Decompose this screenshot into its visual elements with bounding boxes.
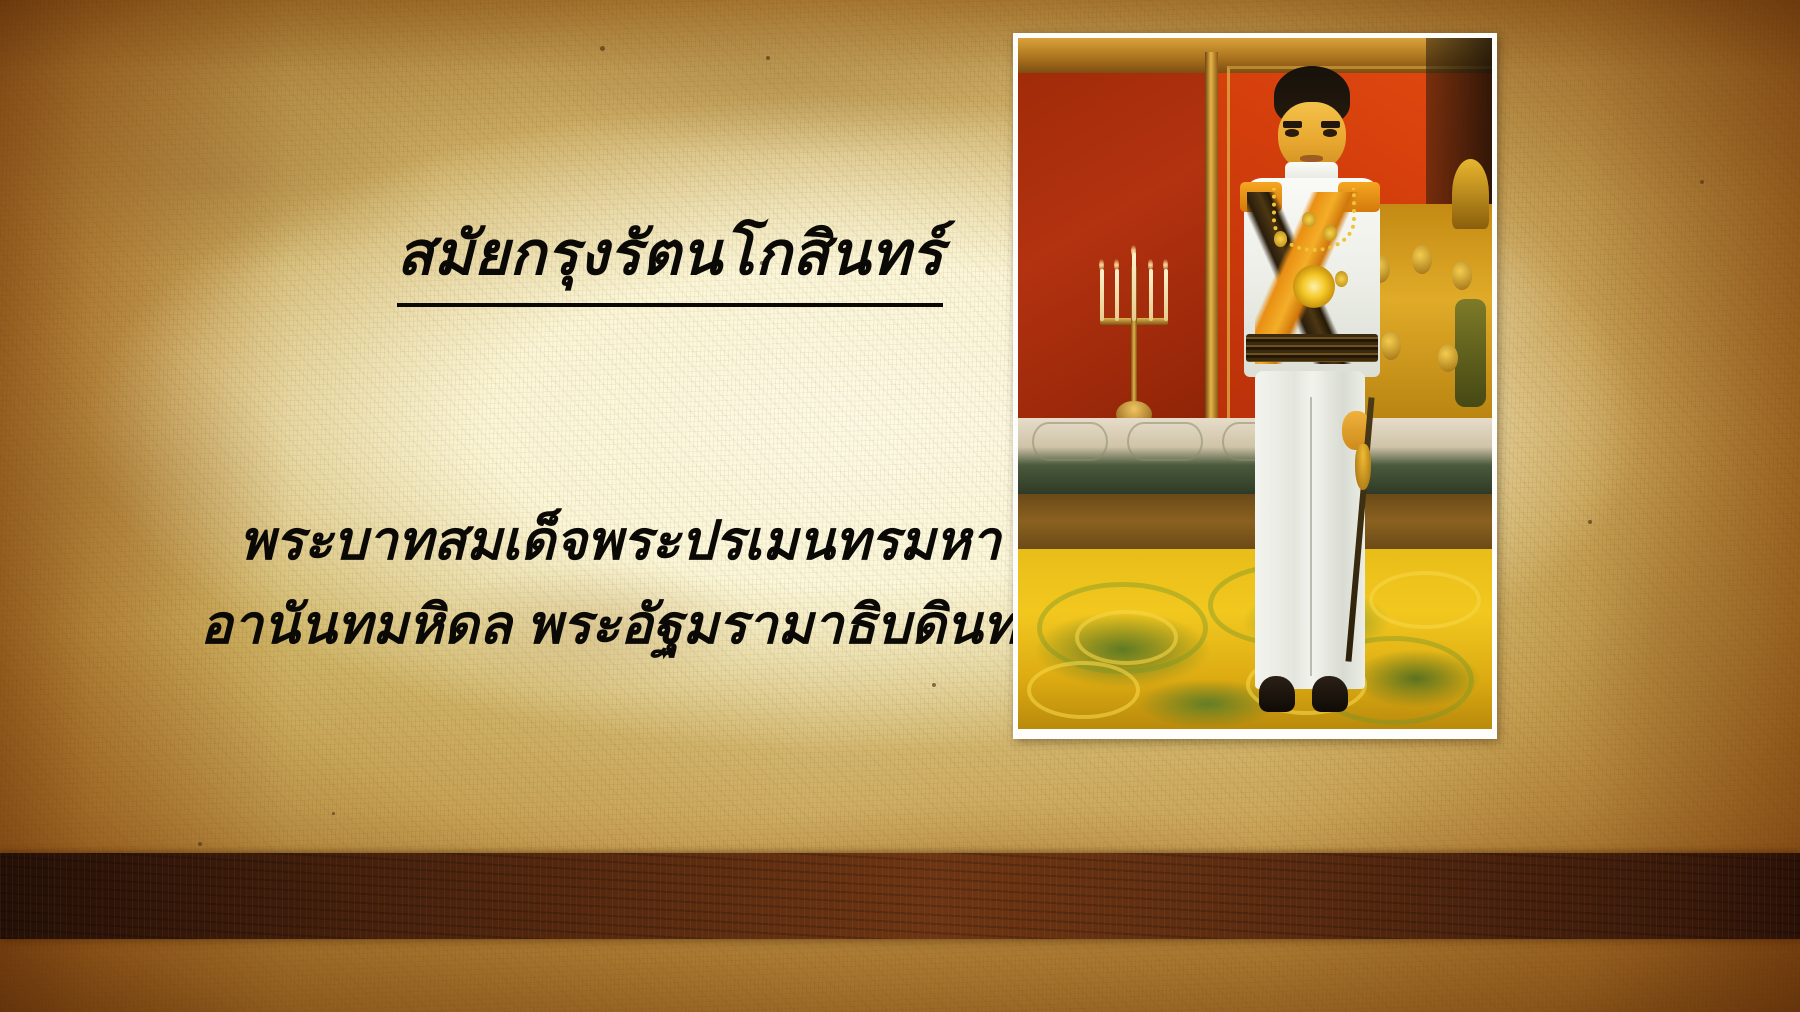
dado-panel <box>1127 422 1203 462</box>
king-eye <box>1285 129 1298 136</box>
king-mouth <box>1300 155 1323 162</box>
royal-breast-star <box>1293 265 1335 308</box>
throne-upholstery <box>1455 299 1486 407</box>
candle <box>1115 269 1119 321</box>
candle <box>1132 252 1136 321</box>
body-line-2: อานันทมหิดล พระอัฐมรามาธิบดินทร <box>200 584 1040 668</box>
slide-body-text: พระบาทสมเด็จพระปรเมนทรมหา อานันทมหิดล พร… <box>200 500 1040 667</box>
slide-title-text: สมัยกรุงรัตนโกสินทร์ <box>397 206 944 307</box>
throne-ornament <box>1452 261 1472 290</box>
slide-title: สมัยกรุงรัตนโกสินทร์ <box>250 206 1090 307</box>
carpet-motif <box>1075 610 1178 665</box>
candle-flame <box>1131 245 1136 257</box>
royal-medal <box>1335 271 1348 287</box>
wall-corner-gilding <box>1205 52 1217 439</box>
band-grain-texture <box>0 853 1800 939</box>
portrait-photo-king-ananda-mahidol <box>1018 38 1492 729</box>
king-eyebrow <box>1321 121 1340 128</box>
candle <box>1149 269 1153 321</box>
royal-medal <box>1302 212 1315 228</box>
king-shoe <box>1259 676 1295 712</box>
throne-ornament <box>1412 245 1432 274</box>
king-shoe <box>1312 676 1348 712</box>
uniform-belt <box>1246 334 1379 362</box>
king-figure <box>1217 66 1407 729</box>
candle-flame <box>1163 259 1168 271</box>
decorative-bottom-band <box>0 853 1800 939</box>
king-eyebrow <box>1283 121 1302 128</box>
candelabra <box>1094 252 1175 425</box>
sword-tassel <box>1355 444 1370 490</box>
presentation-slide: สมัยกรุงรัตนโกสินทร์ พระบาทสมเด็จพระปรเม… <box>0 0 1800 1012</box>
candle-flame <box>1114 259 1119 271</box>
carpet-motif <box>1027 661 1139 719</box>
body-line-1: พระบาทสมเด็จพระปรเมนทรมหา <box>200 500 1040 584</box>
trouser-seam <box>1310 397 1312 676</box>
throne-ornament <box>1438 344 1458 373</box>
candle <box>1100 269 1104 321</box>
portrait-photo-frame <box>1013 33 1497 739</box>
king-eye <box>1323 129 1336 136</box>
royal-medal <box>1323 225 1336 241</box>
candle <box>1164 269 1168 321</box>
dado-panel <box>1032 422 1108 462</box>
throne-back-finial <box>1452 159 1489 229</box>
candle-flame <box>1148 259 1153 271</box>
